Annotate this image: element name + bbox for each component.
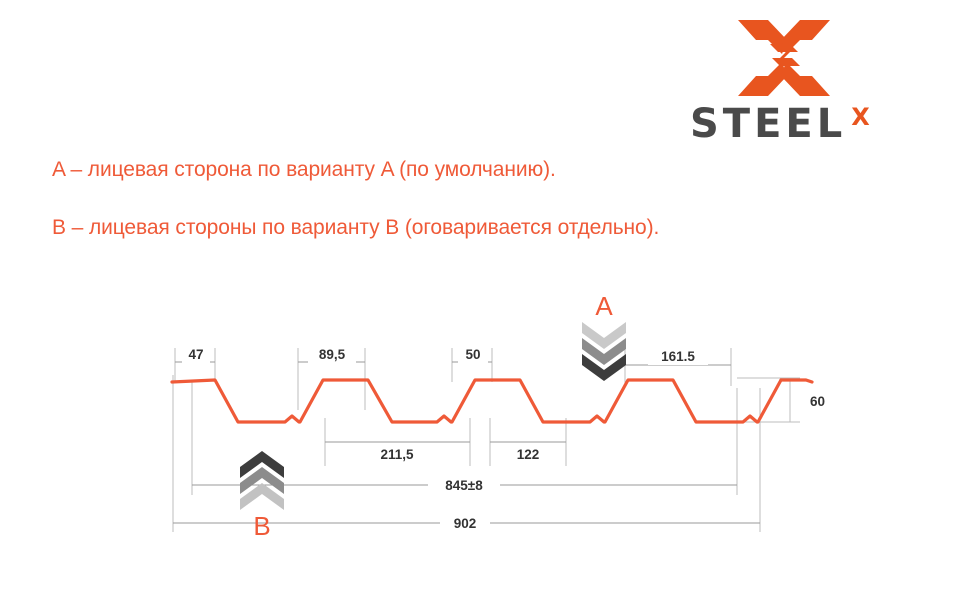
dim-89-5-label: 89,5 (319, 347, 346, 362)
dim-161-5-label: 161.5 (661, 349, 695, 364)
witness-lines (173, 348, 800, 532)
dim-845-label: 845±8 (445, 478, 483, 493)
logo-word-superscript-x: X (851, 105, 870, 129)
bottom-dimension-labels: 845±8 902 (445, 478, 483, 531)
caption-variant-b: B – лицевая стороны по варианту B (огова… (52, 216, 659, 240)
logo-word-steel: STEEL (690, 104, 846, 144)
sheet-profile-path (172, 380, 781, 422)
dim-211-5-label: 211,5 (380, 447, 414, 462)
marker-a: A (582, 291, 626, 381)
dim-60-label: 60 (810, 394, 825, 409)
steelx-logo-mark-icon (738, 18, 830, 98)
logo-wordmark: STEEL X (690, 104, 950, 148)
top-dimension-labels: 47 89,5 50 161.5 (182, 346, 708, 365)
brand-logo: STEEL X (690, 18, 950, 148)
drawing-page: STEEL X A – лицевая сторона по варианту … (0, 0, 970, 597)
chevron-down-stack-icon (582, 322, 626, 381)
top-dimension-lines (175, 362, 731, 365)
dim-122-label: 122 (517, 447, 540, 462)
middle-dimension-labels: 211,5 122 (380, 447, 539, 462)
caption-variant-a: A – лицевая сторона по варианту A (по ум… (52, 158, 556, 182)
chevron-up-stack-icon (240, 451, 284, 510)
sheet-profile-right-tail (781, 380, 812, 382)
marker-b: B (240, 451, 284, 541)
dim-902-label: 902 (454, 516, 477, 531)
dim-50-label: 50 (465, 347, 480, 362)
profile-technical-drawing: 47 89,5 50 161.5 211,5 122 845±8 902 60 (0, 270, 970, 560)
dim-47-label: 47 (188, 347, 203, 362)
marker-a-label: A (595, 291, 613, 321)
marker-b-label: B (253, 511, 270, 541)
